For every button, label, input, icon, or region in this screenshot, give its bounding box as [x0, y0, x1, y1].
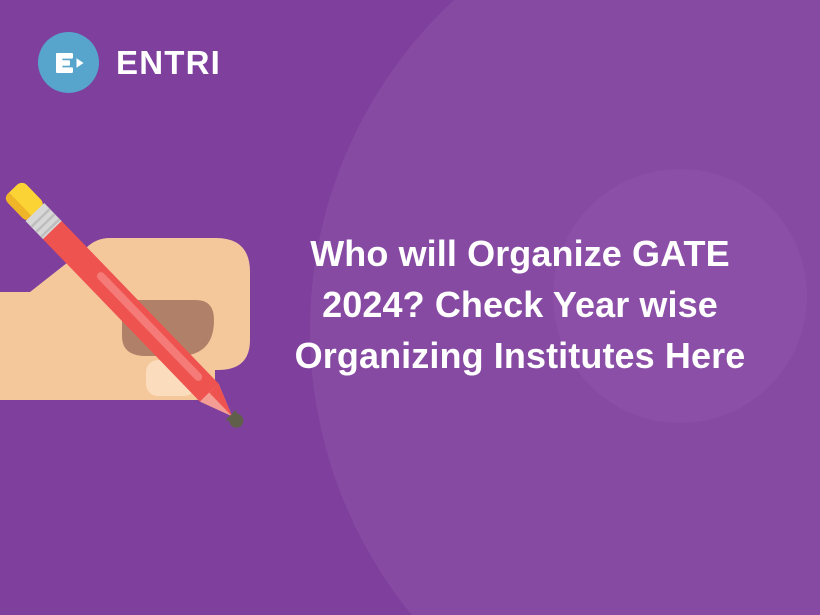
- promotional-banner: ENTRI Who will Organize GATE 2024? Check…: [0, 0, 820, 615]
- hand-writing-with-pencil-illustration: [0, 160, 300, 440]
- entri-e-play-icon: [38, 32, 99, 93]
- brand-wordmark: ENTRI: [116, 46, 221, 79]
- page-title: Who will Organize GATE 2024? Check Year …: [272, 228, 768, 381]
- brand-logo[interactable]: ENTRI: [38, 32, 221, 93]
